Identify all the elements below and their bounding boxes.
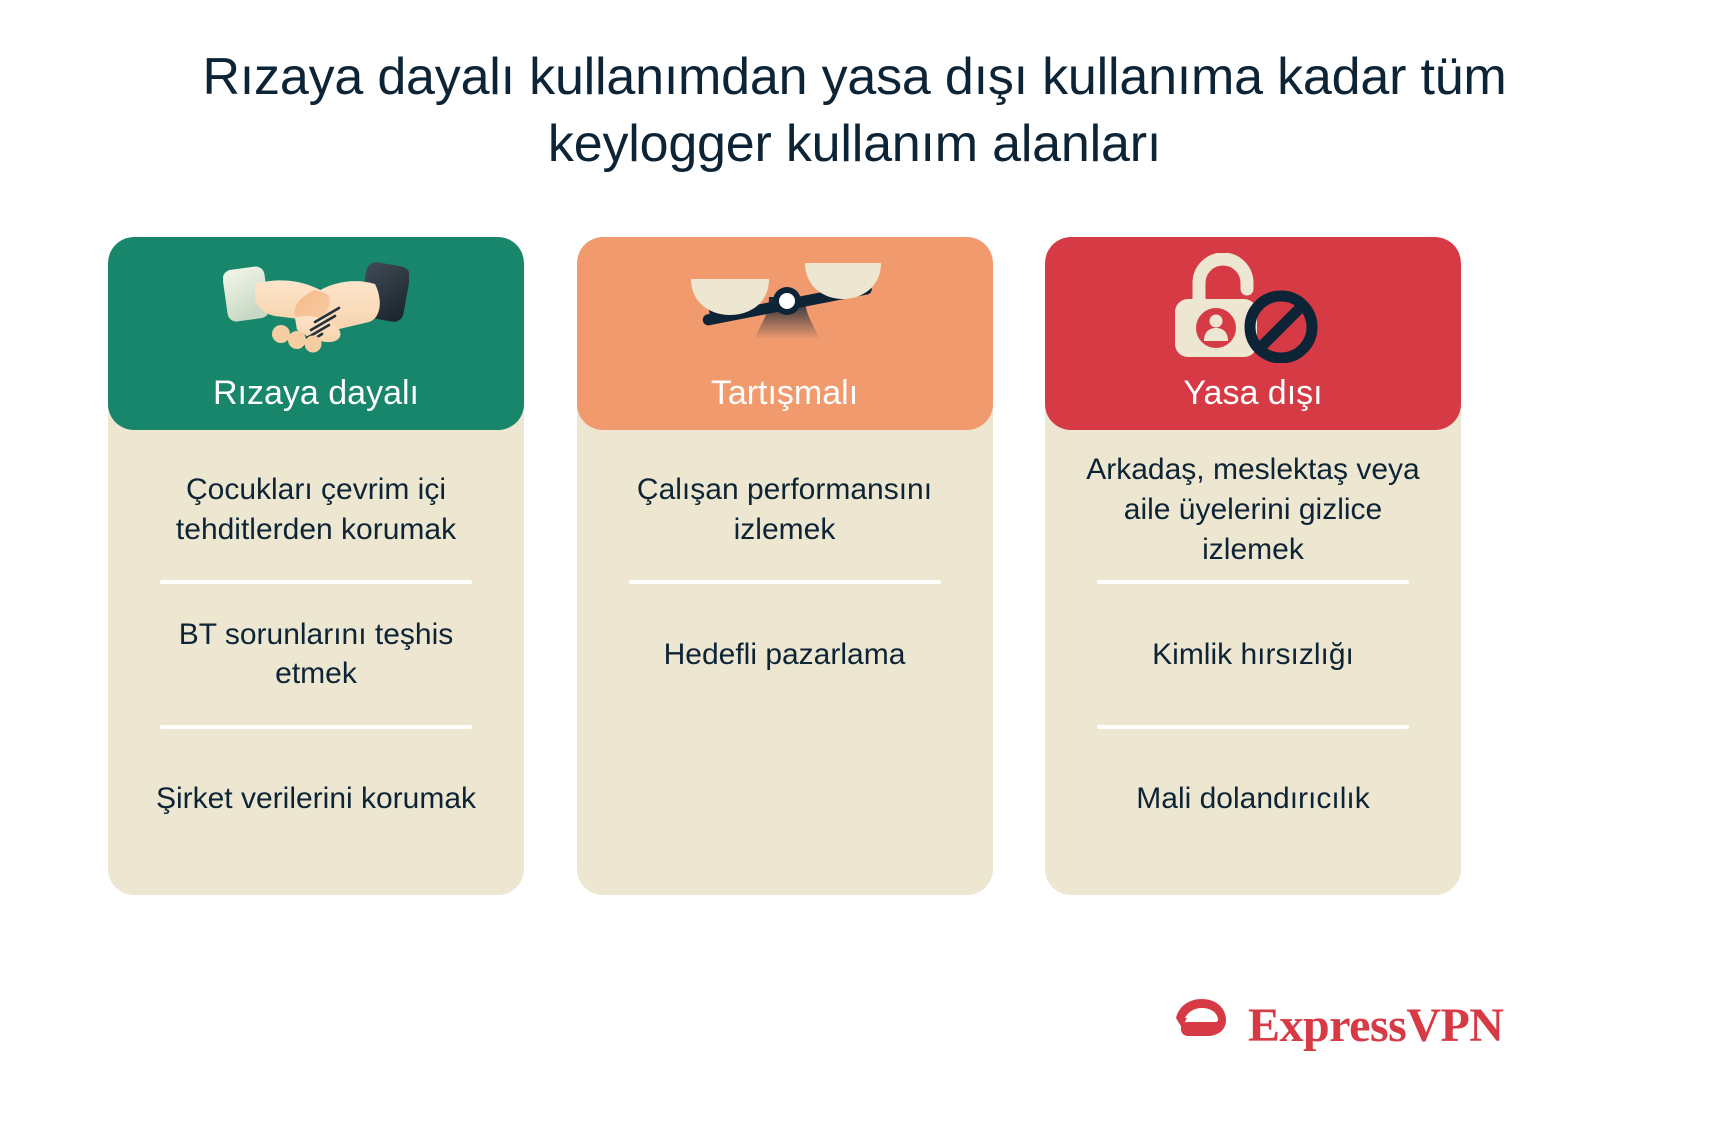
list-item: BT sorunlarını teşhis etmek bbox=[136, 584, 496, 724]
card-header-label: Yasa dışı bbox=[1183, 375, 1322, 412]
card-header-label: Tartışmalı bbox=[711, 375, 858, 412]
card-body-controversial: Çalışan performansını izlemek Hedefli pa… bbox=[577, 430, 993, 895]
unbalanced-scales-icon bbox=[577, 253, 993, 363]
list-item: Kimlik hırsızlığı bbox=[1073, 584, 1433, 724]
card-consensual: Rızaya dayalı Çocukları çevrim içi tehdi… bbox=[108, 237, 524, 895]
list-item: Şirket verilerini korumak bbox=[136, 729, 496, 869]
card-illegal: Yasa dışı Arkadaş, meslektaş veya aile ü… bbox=[1045, 237, 1461, 895]
card-header-controversial: Tartışmalı bbox=[577, 237, 993, 430]
list-item: Hedefli pazarlama bbox=[605, 584, 965, 724]
card-header-label: Rızaya dayalı bbox=[213, 375, 419, 412]
expressvpn-e-mark-icon bbox=[1172, 995, 1234, 1057]
expressvpn-logo: ExpressVPN bbox=[1172, 995, 1503, 1057]
list-item: Mali dolandırıcılık bbox=[1073, 729, 1433, 869]
card-body-illegal: Arkadaş, meslektaş veya aile üyelerini g… bbox=[1045, 430, 1461, 895]
list-item: Çalışan performansını izlemek bbox=[605, 440, 965, 580]
card-header-illegal: Yasa dışı bbox=[1045, 237, 1461, 430]
cards-row: Rızaya dayalı Çocukları çevrim içi tehdi… bbox=[108, 237, 1461, 895]
list-item: Çocukları çevrim içi tehditlerden koruma… bbox=[136, 440, 496, 580]
handshake-icon bbox=[108, 253, 524, 363]
card-body-consensual: Çocukları çevrim içi tehditlerden koruma… bbox=[108, 430, 524, 895]
unlocked-padlock-prohibited-icon bbox=[1045, 253, 1461, 363]
page-title: Rızaya dayalı kullanımdan yasa dışı kull… bbox=[0, 44, 1709, 177]
card-header-consensual: Rızaya dayalı bbox=[108, 237, 524, 430]
card-controversial: Tartışmalı Çalışan performansını izlemek… bbox=[577, 237, 993, 895]
expressvpn-logo-text: ExpressVPN bbox=[1248, 1002, 1503, 1050]
list-item: Arkadaş, meslektaş veya aile üyelerini g… bbox=[1073, 440, 1433, 580]
list-item bbox=[605, 729, 965, 869]
